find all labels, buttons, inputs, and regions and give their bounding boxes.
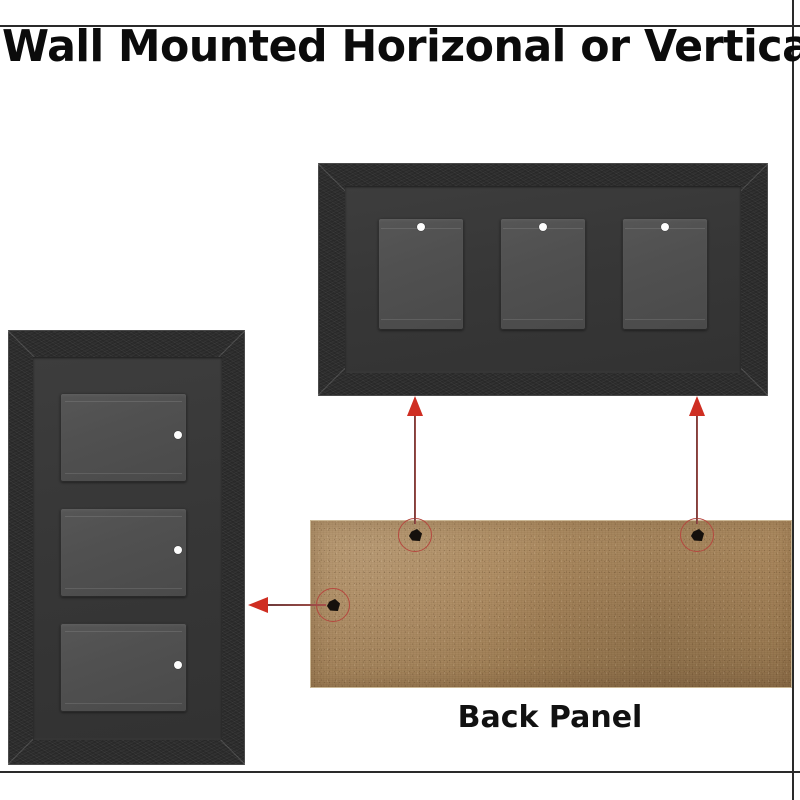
horizontal-photo-opening-1[interactable] [378, 218, 464, 330]
back-panel[interactable] [310, 520, 792, 688]
back-panel-caption: Back Panel [310, 700, 790, 735]
locating-dot-icon [174, 546, 182, 554]
arrow-head-horizontal-right [689, 396, 705, 416]
infographic-canvas: Wall Mounted Horizonal or Vertical [0, 0, 800, 800]
page-title: Wall Mounted Horizonal or Vertical [2, 24, 778, 70]
horizontal-frame[interactable] [318, 163, 768, 396]
vertical-photo-opening-3[interactable] [60, 623, 187, 712]
horizontal-frame-mat [345, 186, 741, 373]
opening-seam-bottom [381, 319, 460, 320]
vertical-photo-opening-2[interactable] [60, 508, 187, 597]
arrow-head-vertical [248, 597, 268, 613]
opening-seam-bottom [503, 319, 582, 320]
vertical-frame-mat [33, 357, 222, 740]
opening-seam-top [65, 401, 182, 402]
arrow-line-vertical [268, 604, 326, 606]
locating-dot-icon [539, 223, 547, 231]
vertical-frame[interactable] [8, 330, 245, 765]
bottom-border-rule [0, 771, 800, 773]
wood-texture [311, 521, 791, 687]
locating-dot-icon [174, 431, 182, 439]
locating-dot-icon [417, 223, 425, 231]
arrow-line-horizontal-left [414, 414, 416, 524]
right-border-rule [792, 0, 794, 800]
opening-seam-bottom [65, 473, 182, 474]
opening-seam-top [65, 631, 182, 632]
opening-seam-bottom [65, 703, 182, 704]
horizontal-photo-opening-2[interactable] [500, 218, 586, 330]
arrow-head-horizontal-left [407, 396, 423, 416]
arrow-line-horizontal-right [696, 414, 698, 524]
horizontal-photo-opening-3[interactable] [622, 218, 708, 330]
opening-seam-bottom [65, 588, 182, 589]
locating-dot-icon [174, 661, 182, 669]
vertical-photo-opening-1[interactable] [60, 393, 187, 482]
opening-seam-top [65, 516, 182, 517]
locating-dot-icon [661, 223, 669, 231]
opening-seam-bottom [625, 319, 704, 320]
